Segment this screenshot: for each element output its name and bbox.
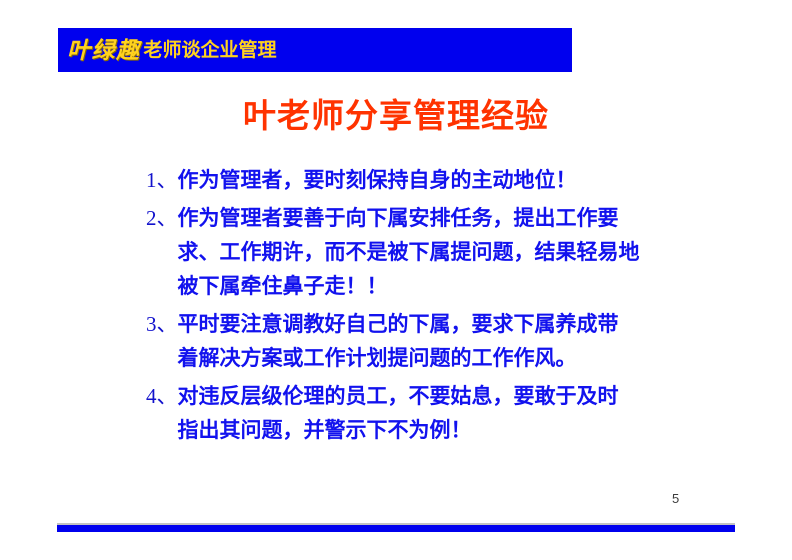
list-item-number: 1、 [146, 163, 178, 197]
presentation-slide: 叶绿趣 老师谈企业管理 叶老师分享管理经验 1、 作为管理者，要时刻保持自身的主… [0, 0, 792, 560]
footer-bar [57, 525, 735, 532]
list-item: 4、 对违反层级伦理的员工，不要姑息，要敢于及时 指出其问题，并警示下不为例！ [146, 379, 706, 447]
page-title: 叶老师分享管理经验 [0, 98, 792, 134]
list-item-line: 作为管理者，要时刻保持自身的主动地位！ [178, 163, 707, 197]
list-item-number: 2、 [146, 201, 178, 235]
list-item-text: 作为管理者，要时刻保持自身的主动地位！ [178, 163, 707, 197]
bullet-list: 1、 作为管理者，要时刻保持自身的主动地位！ 2、 作为管理者要善于向下属安排任… [146, 163, 706, 451]
list-item-number: 3、 [146, 307, 178, 341]
list-item: 1、 作为管理者，要时刻保持自身的主动地位！ [146, 163, 706, 197]
list-item-line: 平时要注意调教好自己的下属，要求下属养成带 [178, 307, 707, 341]
list-item-line: 被下属牵住鼻子走！！ [178, 269, 707, 303]
list-item: 3、 平时要注意调教好自己的下属，要求下属养成带 着解决方案或工作计划提问题的工… [146, 307, 706, 375]
list-item-text: 对违反层级伦理的员工，不要姑息，要敢于及时 指出其问题，并警示下不为例！ [178, 379, 707, 447]
list-item: 2、 作为管理者要善于向下属安排任务，提出工作要 求、工作期许，而不是被下属提问… [146, 201, 706, 303]
list-item-line: 对违反层级伦理的员工，不要姑息，要敢于及时 [178, 379, 707, 413]
list-item-text: 平时要注意调教好自己的下属，要求下属养成带 着解决方案或工作计划提问题的工作作风… [178, 307, 707, 375]
page-number: 5 [672, 491, 679, 506]
list-item-line: 作为管理者要善于向下属安排任务，提出工作要 [178, 201, 707, 235]
header-banner-title: 老师谈企业管理 [144, 41, 277, 60]
list-item-number: 4、 [146, 379, 178, 413]
list-item-line: 指出其问题，并警示下不为例！ [178, 413, 707, 447]
brand-logo-text: 叶绿趣 [67, 39, 141, 62]
list-item-line: 求、工作期许，而不是被下属提问题，结果轻易地 [178, 235, 707, 269]
list-item-text: 作为管理者要善于向下属安排任务，提出工作要 求、工作期许，而不是被下属提问题，结… [178, 201, 707, 303]
header-banner: 叶绿趣 老师谈企业管理 [58, 28, 572, 72]
list-item-line: 着解决方案或工作计划提问题的工作作风。 [178, 341, 707, 375]
